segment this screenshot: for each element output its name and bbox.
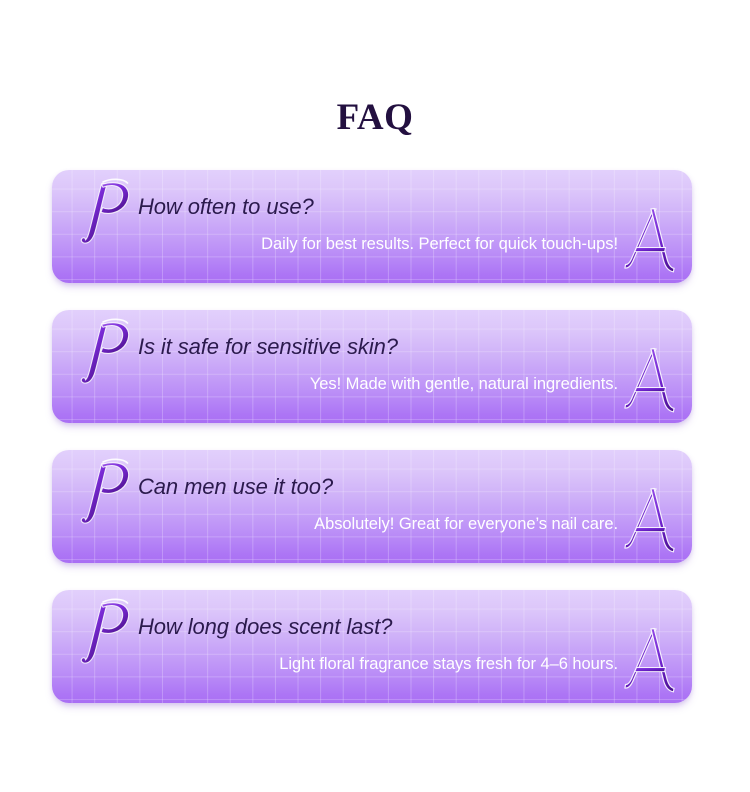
faq-card[interactable]: Is it safe for sensitive skin? Yes! Made…: [52, 310, 692, 423]
answer-monogram-icon: [618, 343, 684, 415]
question-monogram-icon: [73, 316, 151, 394]
faq-answer: Absolutely! Great for everyone’s nail ca…: [314, 512, 618, 536]
faq-list: How often to use? Daily for best results…: [52, 170, 692, 730]
faq-question: How often to use?: [138, 192, 314, 222]
faq-answer: Daily for best results. Perfect for quic…: [261, 232, 618, 256]
faq-page: FAQ: [0, 0, 750, 792]
faq-card[interactable]: Can men use it too? Absolutely! Great fo…: [52, 450, 692, 563]
answer-monogram-icon: [618, 483, 684, 555]
faq-answer: Yes! Made with gentle, natural ingredien…: [310, 372, 618, 396]
answer-monogram-icon: [618, 203, 684, 275]
faq-answer: Light floral fragrance stays fresh for 4…: [279, 652, 618, 676]
faq-question: Is it safe for sensitive skin?: [138, 332, 398, 362]
faq-question: Can men use it too?: [138, 472, 333, 502]
question-monogram-icon: [73, 456, 151, 534]
faq-card[interactable]: How often to use? Daily for best results…: [52, 170, 692, 283]
question-monogram-icon: [73, 596, 151, 674]
question-monogram-icon: [73, 176, 151, 254]
answer-monogram-icon: [618, 623, 684, 695]
faq-question: How long does scent last?: [138, 612, 392, 642]
page-title: FAQ: [0, 96, 750, 140]
faq-card[interactable]: How long does scent last? Light floral f…: [52, 590, 692, 703]
